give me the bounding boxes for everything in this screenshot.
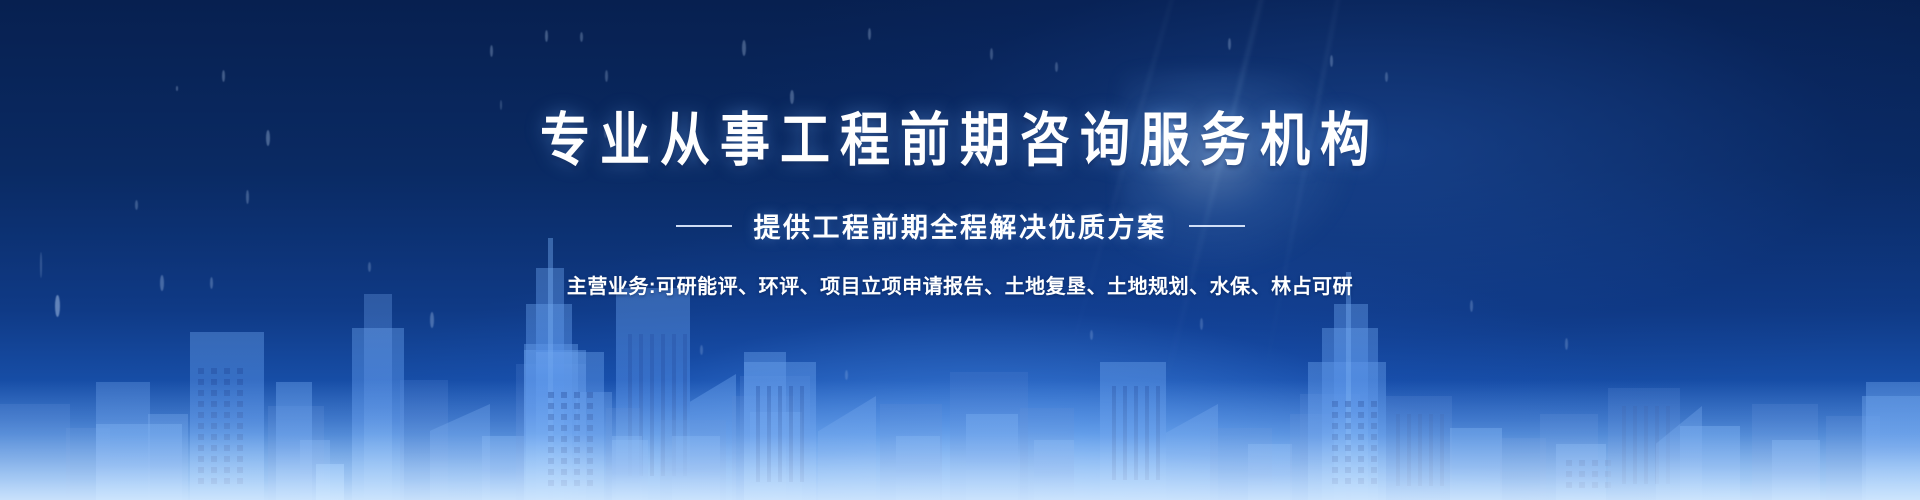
page-title: 专业从事工程前期咨询服务机构 <box>0 108 1920 173</box>
subtitle-row: 提供工程前期全程解决优质方案 <box>0 206 1920 245</box>
banner-copy: 专业从事工程前期咨询服务机构 提供工程前期全程解决优质方案 主营业务:可研能评、… <box>0 0 1920 500</box>
hero-banner: 专业从事工程前期咨询服务机构 提供工程前期全程解决优质方案 主营业务:可研能评、… <box>0 0 1920 500</box>
banner-subtitle: 提供工程前期全程解决优质方案 <box>754 206 1167 245</box>
right-rule-icon <box>1189 225 1245 227</box>
services-line: 主营业务:可研能评、环评、项目立项申请报告、土地复垦、土地规划、水保、林占可研 <box>0 270 1920 299</box>
left-rule-icon <box>676 225 732 227</box>
